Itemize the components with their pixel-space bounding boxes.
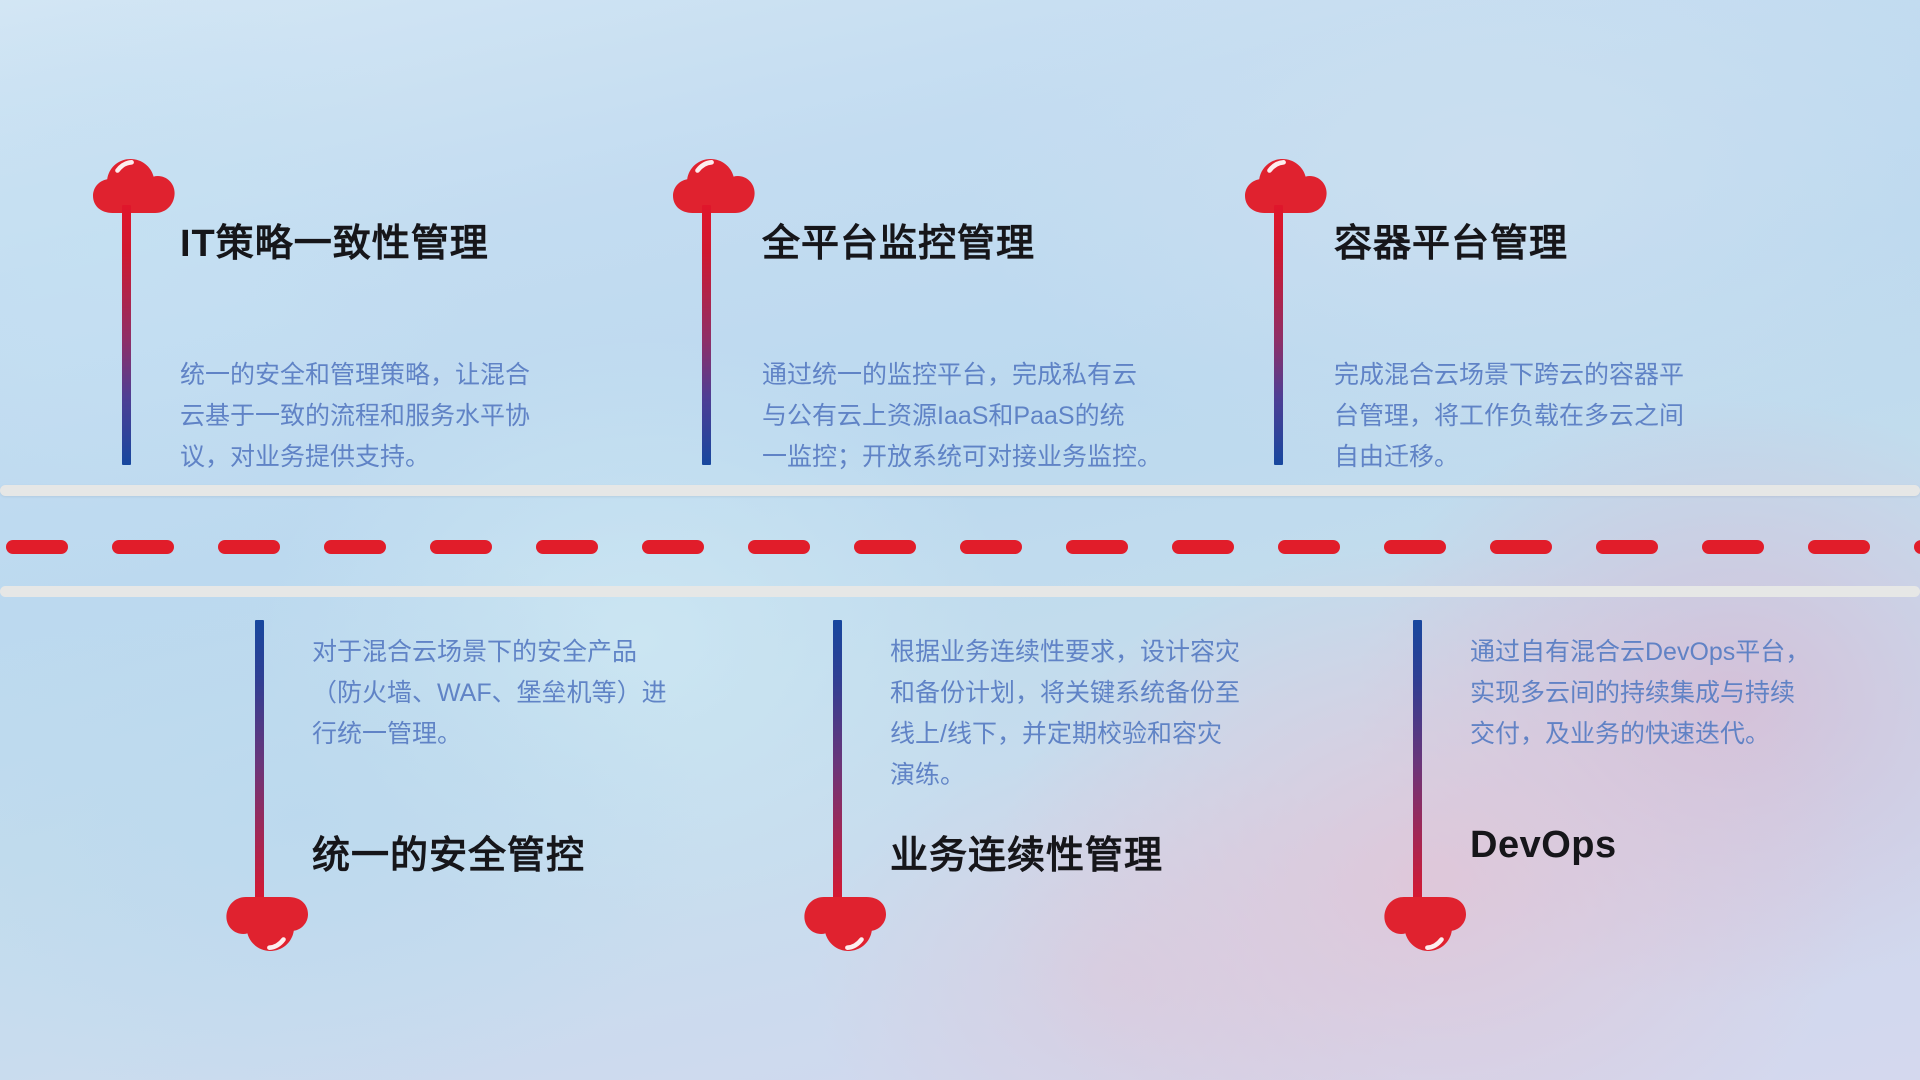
- road-rail-bottom: [0, 586, 1920, 597]
- cloud-pin-icon: [672, 158, 756, 214]
- road-dash: [1596, 540, 1658, 554]
- top-feature-1-description: 统一的安全和管理策略，让混合 云基于一致的流程和服务水平协 议，对业务提供支持。: [180, 355, 610, 478]
- road-dashed-centerline: [0, 540, 1920, 554]
- cloud-pin-icon: [1383, 896, 1467, 952]
- feature-stem: [702, 205, 711, 465]
- feature-stem: [833, 620, 842, 910]
- road-rail-top: [0, 485, 1920, 496]
- road-dash: [1384, 540, 1446, 554]
- cloud-pin-icon: [92, 158, 176, 214]
- bottom-feature-3-title: DevOps: [1470, 824, 1617, 867]
- cloud-pin-icon: [225, 896, 309, 952]
- feature-stem: [122, 205, 131, 465]
- road-dash: [6, 540, 68, 554]
- road-dash: [1808, 540, 1870, 554]
- top-feature-2-title: 全平台监控管理: [762, 212, 1035, 267]
- feature-stem: [1413, 620, 1422, 910]
- road-dash: [642, 540, 704, 554]
- top-feature-1-title: IT策略一致性管理: [180, 212, 489, 267]
- road-dash: [748, 540, 810, 554]
- road-dash: [960, 540, 1022, 554]
- cloud-pin-icon: [1244, 158, 1328, 214]
- top-feature-2-description: 通过统一的监控平台，完成私有云 与公有云上资源IaaS和PaaS的统 一监控；开…: [762, 355, 1232, 478]
- top-feature-3-title: 容器平台管理: [1334, 212, 1568, 267]
- bottom-feature-2-description: 根据业务连续性要求，设计容灾 和备份计划，将关键系统备份至 线上/线下，并定期校…: [890, 632, 1320, 796]
- bottom-feature-3-description: 通过自有混合云DevOps平台， 实现多云间的持续集成与持续 交付，及业务的快速…: [1470, 632, 1900, 755]
- road-dash: [854, 540, 916, 554]
- road-dash: [1702, 540, 1764, 554]
- road-dash: [218, 540, 280, 554]
- road-dash: [324, 540, 386, 554]
- road-dash: [1490, 540, 1552, 554]
- road-dash: [112, 540, 174, 554]
- road-dash: [1914, 540, 1920, 554]
- divider-road: [0, 485, 1920, 496]
- bottom-feature-2-title: 业务连续性管理: [890, 824, 1163, 879]
- infographic-canvas: IT策略一致性管理 统一的安全和管理策略，让混合 云基于一致的流程和服务水平协 …: [0, 0, 1920, 1080]
- road-dash: [536, 540, 598, 554]
- top-feature-3-description: 完成混合云场景下跨云的容器平 台管理，将工作负载在多云之间 自由迁移。: [1334, 355, 1784, 478]
- feature-stem: [1274, 205, 1283, 465]
- road-dash: [1066, 540, 1128, 554]
- road-dash: [1172, 540, 1234, 554]
- divider-road-lower: [0, 586, 1920, 597]
- cloud-pin-icon: [803, 896, 887, 952]
- feature-stem: [255, 620, 264, 910]
- road-dash: [430, 540, 492, 554]
- road-dash: [1278, 540, 1340, 554]
- bottom-feature-1-description: 对于混合云场景下的安全产品 （防火墙、WAF、堡垒机等）进 行统一管理。: [312, 632, 742, 755]
- bottom-feature-1-title: 统一的安全管控: [312, 824, 585, 879]
